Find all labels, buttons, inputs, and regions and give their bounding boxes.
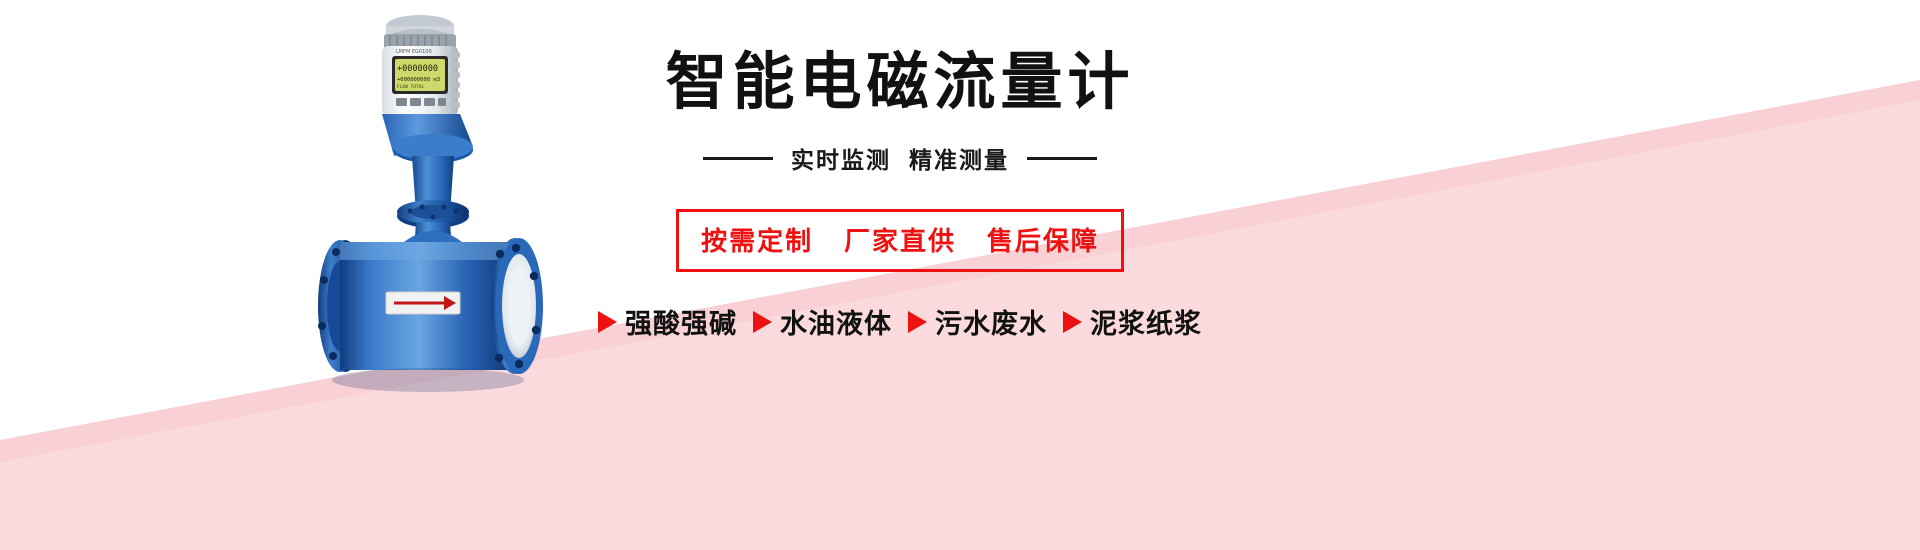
badge-item-support: 售后保障 [987,226,1099,256]
product-image-flowmeter: +0000000 +000000000 m3 FLOW TOTAL LMFM E… [300,8,630,408]
banner-text-block: 智能电磁流量计 实时监测 精准测量 按需定制 厂家直供 售后保障 强酸强碱 水油… [600,30,1200,390]
feature-item-1: 强酸强碱 [598,302,737,341]
feature-label-4: 泥浆纸浆 [1090,302,1202,341]
rule-left [703,157,773,160]
arrow-right-icon [1063,311,1082,333]
feature-item-4: 泥浆纸浆 [1063,302,1202,341]
page-title: 智能电磁流量计 [665,50,1134,115]
feature-list: 强酸强碱 水油液体 污水废水 泥浆纸浆 [598,302,1202,341]
svg-text:+0000000: +0000000 [397,64,438,74]
svg-text:+000000000 m3: +000000000 m3 [397,77,440,83]
promo-banner: +0000000 +000000000 m3 FLOW TOTAL LMFM E… [0,0,1920,550]
feature-label-2: 水油液体 [780,302,892,341]
feature-label-3: 污水废水 [935,302,1047,341]
badge-item-custom: 按需定制 [701,226,813,256]
subtitle-right: 精准测量 [909,141,1009,175]
arrow-right-icon [598,311,617,333]
subtitle-row: 实时监测 精准测量 [703,141,1097,175]
arrow-right-icon [908,311,927,333]
feature-item-3: 污水废水 [908,302,1047,341]
feature-item-2: 水油液体 [753,302,892,341]
feature-label-1: 强酸强碱 [625,302,737,341]
rule-right [1027,157,1097,160]
arrow-right-icon [753,311,772,333]
badge-item-factory: 厂家直供 [844,226,956,256]
svg-text:FLOW TOTAL: FLOW TOTAL [397,84,424,90]
svg-text:LMFM EG0100: LMFM EG0100 [396,49,432,55]
guarantee-badge-box: 按需定制 厂家直供 售后保障 [676,209,1124,272]
subtitle-left: 实时监测 [791,141,891,175]
